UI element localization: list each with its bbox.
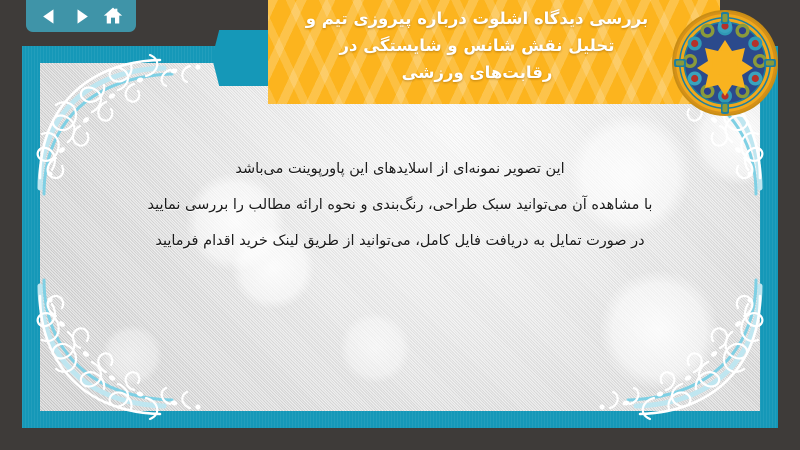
body-line: در صورت تمایل به دریافت فایل کامل، می‌تو…: [80, 223, 720, 259]
bokeh-circle: [102, 325, 162, 385]
navigation-bar: [26, 0, 136, 32]
bokeh-circle: [600, 271, 718, 389]
triangle-left-icon[interactable]: [37, 5, 61, 27]
title-banner: بررسی دیدگاه اشلوت درباره پیروزی تیم و ت…: [268, 0, 720, 104]
slide-viewer: این تصویر نمونه‌ای از اسلایدهای این پاور…: [0, 0, 800, 450]
triangle-right-icon[interactable]: [69, 5, 93, 27]
body-line: این تصویر نمونه‌ای از اسلایدهای این پاور…: [80, 151, 720, 187]
persian-medallion-icon: [672, 10, 778, 116]
bokeh-circle: [340, 313, 410, 383]
slide-body-text: این تصویر نمونه‌ای از اسلایدهای این پاور…: [80, 151, 720, 259]
home-icon[interactable]: [101, 5, 125, 27]
slide-content-panel: این تصویر نمونه‌ای از اسلایدهای این پاور…: [40, 63, 760, 411]
title-banner-tab: [212, 30, 272, 86]
body-line: با مشاهده آن می‌توانید سبک طراحی، رنگ‌بن…: [80, 187, 720, 223]
slide-title: بررسی دیدگاه اشلوت درباره پیروزی تیم و ت…: [268, 0, 720, 86]
